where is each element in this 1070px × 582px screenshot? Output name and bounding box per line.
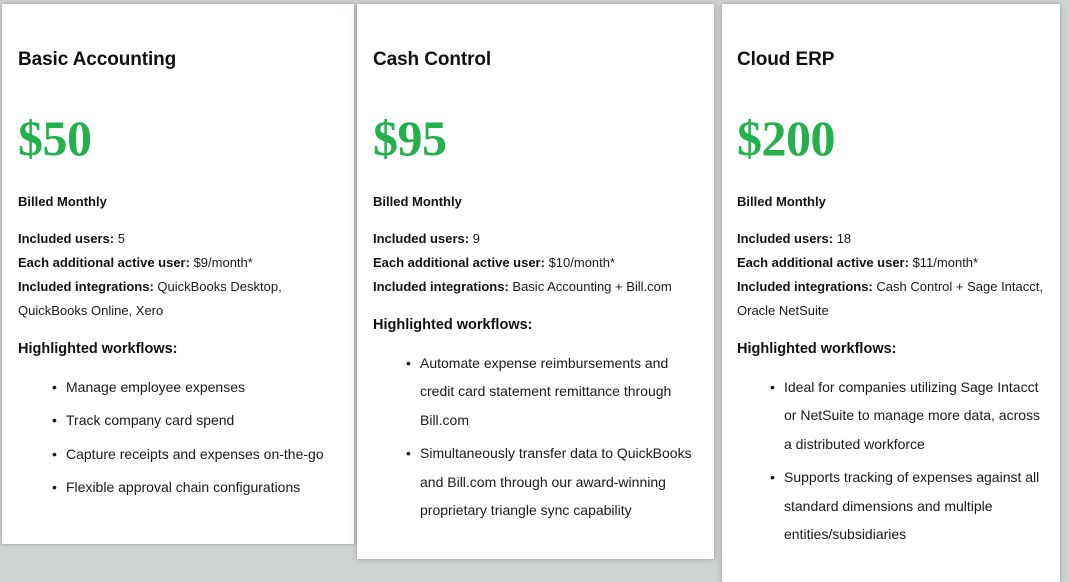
plan-spec-row: Included integrations: Cash Control + Sa… xyxy=(737,275,1046,323)
pricing-card-basic-accounting[interactable]: Basic Accounting $50 Billed Monthly Incl… xyxy=(2,4,354,544)
plan-spec-row: Included users: 5 xyxy=(18,227,338,251)
plan-spec-row: Included integrations: QuickBooks Deskto… xyxy=(18,275,338,323)
workflow-item: Capture receipts and expenses on-the-go xyxy=(52,440,338,469)
workflow-item: Manage employee expenses xyxy=(52,373,338,402)
spec-label: Included integrations: xyxy=(373,279,509,294)
plan-title: Cloud ERP xyxy=(737,4,1046,69)
spec-value: Basic Accounting + Bill.com xyxy=(509,279,672,294)
spec-label: Each additional active user: xyxy=(18,255,190,270)
workflows-heading: Highlighted workflows: xyxy=(737,323,1046,357)
pricing-card-cloud-erp[interactable]: Cloud ERP $200 Billed Monthly Included u… xyxy=(722,4,1060,582)
plan-spec-row: Included users: 18 xyxy=(737,227,1046,251)
spec-label: Each additional active user: xyxy=(373,255,545,270)
billing-period: Billed Monthly xyxy=(373,163,698,208)
spec-value: $9/month* xyxy=(190,255,253,270)
spec-label: Each additional active user: xyxy=(737,255,909,270)
plan-price: $200 xyxy=(737,69,1046,163)
workflows-heading: Highlighted workflows: xyxy=(18,323,338,357)
spec-label: Included users: xyxy=(373,231,469,246)
workflow-item: Ideal for companies utilizing Sage Intac… xyxy=(770,373,1046,459)
pricing-card-content: Cash Control $95 Billed Monthly Included… xyxy=(357,4,714,525)
billing-period: Billed Monthly xyxy=(737,163,1046,208)
plan-spec-row: Included integrations: Basic Accounting … xyxy=(373,275,698,299)
spec-value: 5 xyxy=(114,231,125,246)
plan-title: Basic Accounting xyxy=(18,4,338,69)
pricing-plan-grid: Basic Accounting $50 Billed Monthly Incl… xyxy=(0,0,1070,582)
spec-label: Included integrations: xyxy=(737,279,873,294)
workflow-item: Simultaneously transfer data to QuickBoo… xyxy=(406,439,698,525)
plan-price: $95 xyxy=(373,69,698,163)
plan-spec-list: Included users: 18 Each additional activ… xyxy=(737,227,1046,323)
plan-spec-row: Each additional active user: $9/month* xyxy=(18,251,338,275)
workflow-item: Automate expense reimbursements and cred… xyxy=(406,349,698,435)
plan-spec-row: Each additional active user: $11/month* xyxy=(737,251,1046,275)
plan-spec-row: Each additional active user: $10/month* xyxy=(373,251,698,275)
workflow-item: Flexible approval chain configurations xyxy=(52,473,338,502)
workflow-list: Manage employee expenses Track company c… xyxy=(18,357,338,502)
plan-spec-row: Included users: 9 xyxy=(373,227,698,251)
spec-value: 18 xyxy=(833,231,851,246)
workflow-item: Supports tracking of expenses against al… xyxy=(770,463,1046,549)
spec-value: $10/month* xyxy=(545,255,615,270)
workflow-list: Ideal for companies utilizing Sage Intac… xyxy=(737,357,1046,549)
pricing-card-content: Cloud ERP $200 Billed Monthly Included u… xyxy=(722,4,1060,549)
spec-value: 9 xyxy=(469,231,480,246)
spec-value: $11/month* xyxy=(909,255,978,270)
billing-period: Billed Monthly xyxy=(18,163,338,208)
plan-spec-list: Included users: 5 Each additional active… xyxy=(18,227,338,323)
plan-title: Cash Control xyxy=(373,4,698,69)
plan-spec-list: Included users: 9 Each additional active… xyxy=(373,227,698,299)
workflow-list: Automate expense reimbursements and cred… xyxy=(373,333,698,525)
workflows-heading: Highlighted workflows: xyxy=(373,299,698,333)
workflow-item: Track company card spend xyxy=(52,406,338,435)
spec-label: Included integrations: xyxy=(18,279,154,294)
plan-price: $50 xyxy=(18,69,338,163)
pricing-card-content: Basic Accounting $50 Billed Monthly Incl… xyxy=(2,4,354,502)
pricing-card-cash-control[interactable]: Cash Control $95 Billed Monthly Included… xyxy=(357,4,714,559)
spec-label: Included users: xyxy=(737,231,833,246)
spec-label: Included users: xyxy=(18,231,114,246)
